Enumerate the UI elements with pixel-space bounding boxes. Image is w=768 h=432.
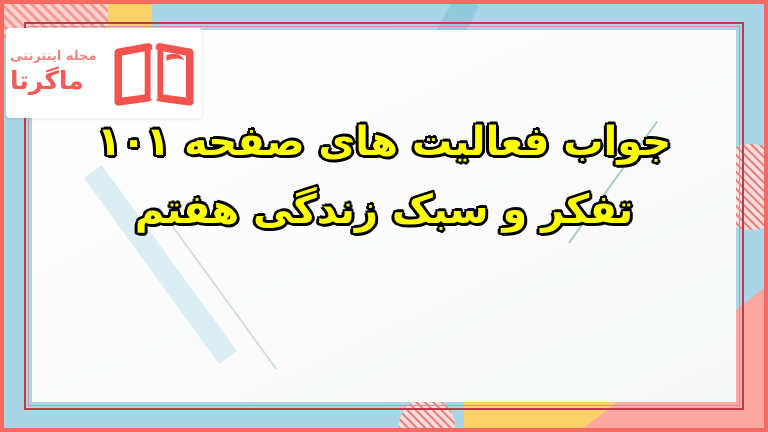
open-book-icon	[112, 40, 196, 106]
logo-name: ماگرتا	[10, 67, 84, 96]
site-logo[interactable]: مجله اینترنتی ماگرتا	[6, 28, 202, 118]
poster-canvas: جواب فعالیت های صفحه ۱۰۱ تفکر و سبک زندگ…	[0, 0, 768, 432]
logo-text-block: مجله اینترنتی ماگرتا	[10, 50, 112, 95]
logo-subtitle: مجله اینترنتی	[10, 50, 97, 64]
